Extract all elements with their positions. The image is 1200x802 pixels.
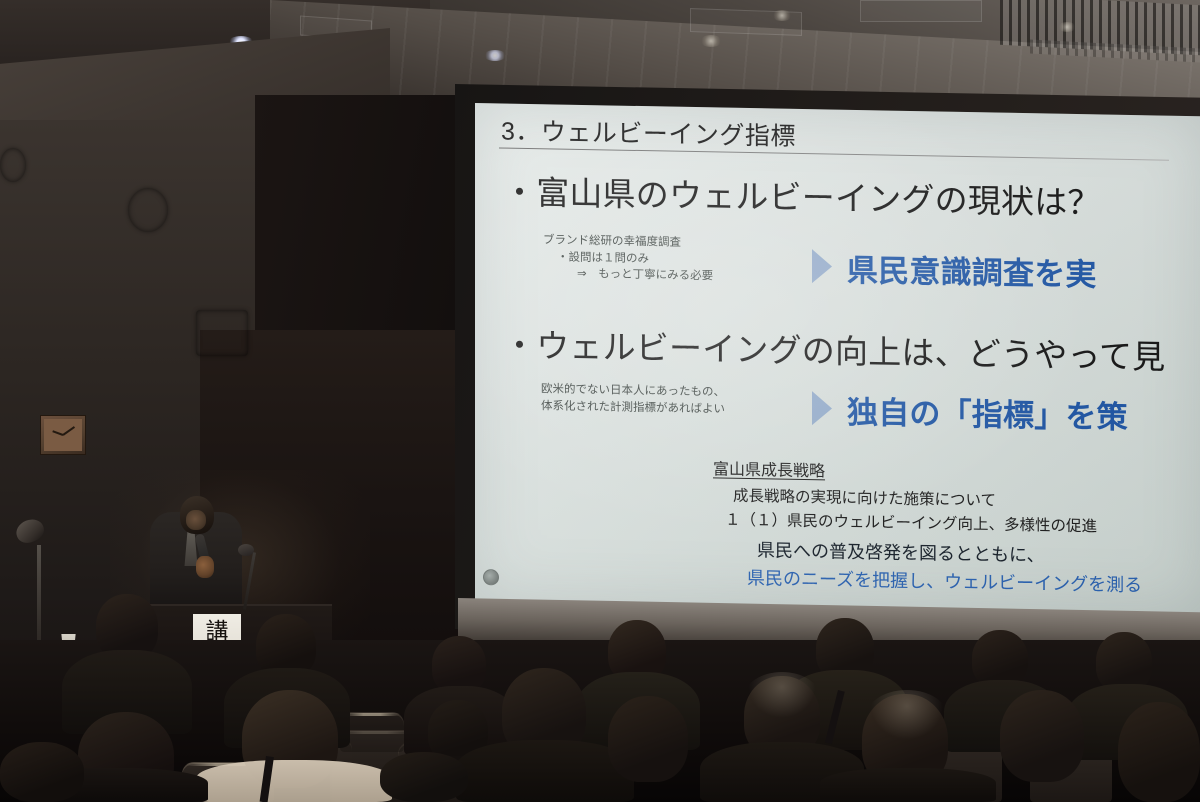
slide-bullet-2: ・ウェルビーイングの向上は、どうやって見 bbox=[503, 319, 1165, 379]
wall-speaker-grille-1 bbox=[0, 148, 26, 182]
ceiling-vent-4 bbox=[860, 0, 982, 22]
audience-head bbox=[1000, 690, 1084, 782]
slide-note-1-line-3: ⇒ もっと丁寧にみる必要 bbox=[543, 266, 713, 286]
ceiling-downlight-4 bbox=[772, 10, 792, 21]
speaker-hand bbox=[196, 556, 214, 578]
ceiling-downlight-2 bbox=[484, 50, 506, 61]
slide-note-1-line-2: ・設問は１問のみ bbox=[543, 249, 713, 269]
strategy-line-1: 成長戦略の実現に向けた施策について bbox=[733, 484, 996, 511]
slide-note-block-1: ブランド総研の幸福度調査 ・設問は１問のみ ⇒ もっと丁寧にみる必要 bbox=[543, 232, 713, 285]
clock-face bbox=[44, 419, 82, 451]
wall-clock bbox=[40, 415, 86, 455]
strategy-line-2: １（１）県民のウェルビーイング向上、多様性の促進 bbox=[725, 508, 1097, 537]
audience-shoulders bbox=[820, 768, 996, 802]
wall-speaker-box bbox=[196, 310, 248, 356]
audience-head bbox=[0, 742, 84, 802]
slide-bullet-1: ・富山県のウェルビーイングの現状は？ bbox=[503, 166, 1101, 225]
slide-content: 3．ウェルビーイング指標 ・富山県のウェルビーイングの現状は？ ブランド総研の幸… bbox=[475, 103, 1200, 613]
audience-shoulders bbox=[196, 760, 392, 802]
chair-highlight bbox=[344, 713, 400, 716]
strategy-emphasis-dark: 県民への普及啓発を図るとともに、 bbox=[757, 536, 1044, 567]
ceiling-downlight-5 bbox=[1058, 22, 1076, 32]
slide-title: 3．ウェルビーイング指標 bbox=[501, 111, 796, 152]
slide-callout-2: 独自の「指標」を策 bbox=[847, 387, 1128, 437]
audience-head bbox=[1096, 632, 1152, 692]
clock-minute-hand bbox=[62, 426, 75, 436]
arrow-right-icon-2 bbox=[812, 391, 832, 425]
strategy-heading: 富山県成長戦略 bbox=[713, 455, 825, 481]
strategy-emphasis-blue: 県民のニーズを把握し、ウェルビーイングを測る bbox=[747, 564, 1142, 597]
speaker-face bbox=[186, 510, 206, 530]
audience-head bbox=[1118, 702, 1200, 802]
audience-head bbox=[380, 752, 468, 802]
audience-head bbox=[608, 696, 688, 782]
slide-note-block-2: 欧米的でない日本人にあったもの、 体系化された計測指標があればよい bbox=[541, 381, 725, 418]
arrow-right-icon-1 bbox=[812, 249, 832, 283]
slide-note-2-line-2: 体系化された計測指標があればよい bbox=[541, 398, 725, 418]
slide-callout-1: 県民意識調査を実 bbox=[847, 245, 1097, 295]
podium-mic-head bbox=[238, 544, 254, 556]
ceiling-downlight-3 bbox=[700, 35, 722, 47]
presentation-slide: 3．ウェルビーイング指標 ・富山県のウェルビーイングの現状は？ ブランド総研の幸… bbox=[475, 103, 1200, 613]
wall-speaker-grille-2 bbox=[128, 188, 168, 232]
slide-page-marker bbox=[483, 569, 499, 585]
lecture-hall-photo: 3．ウェルビーイング指標 ・富山県のウェルビーイングの現状は？ ブランド総研の幸… bbox=[0, 0, 1200, 802]
slide-title-rule bbox=[499, 147, 1169, 160]
